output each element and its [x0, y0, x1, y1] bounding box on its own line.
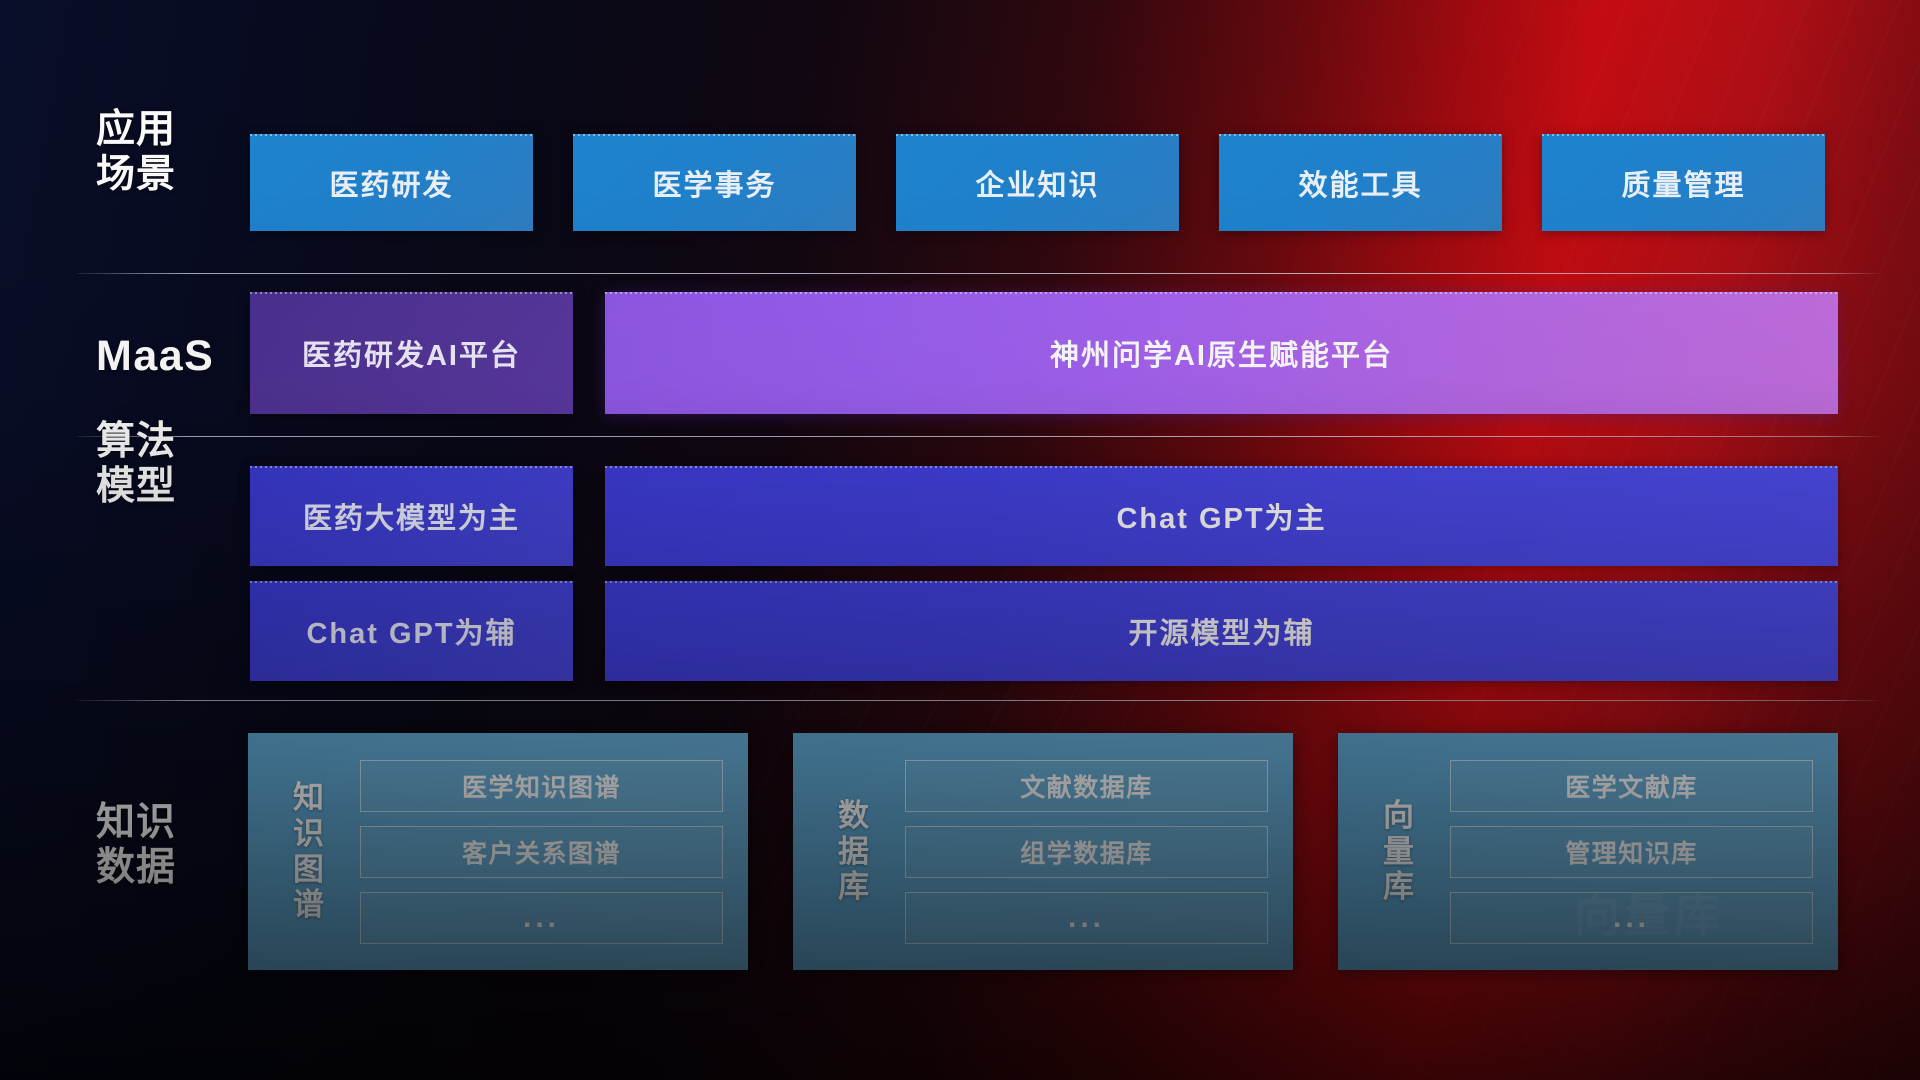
knowledge-panel-vector-store[interactable]: 向量库 向 量 库 医学文献库 管理知识库 ...: [1338, 733, 1838, 970]
maas-card-medicine-rd-ai-platform[interactable]: 医药研发AI平台: [250, 292, 573, 414]
row-label-line: 算法: [96, 419, 236, 464]
knowledge-panel-title-char: 库: [1360, 869, 1438, 905]
app-card-quality-management[interactable]: 质量管理: [1542, 134, 1825, 231]
knowledge-item-medical-literature-store[interactable]: 医学文献库: [1450, 760, 1813, 812]
dotted-edge-decoration: [250, 466, 573, 468]
algo-card-label: 开源模型为辅: [1128, 610, 1314, 652]
dotted-edge-decoration: [250, 134, 533, 136]
app-card-label: 企业知识: [975, 162, 1099, 204]
app-card-label: 医学事务: [652, 162, 776, 204]
divider-after-application-scenarios: [77, 273, 1880, 274]
knowledge-panel-items: 医学知识图谱 客户关系图谱 ...: [360, 760, 723, 944]
dotted-edge-decoration: [1219, 134, 1502, 136]
row-label-algorithm-models: 算法 模型: [96, 419, 236, 509]
knowledge-panel-title-char: 量: [1360, 834, 1438, 870]
dotted-edge-decoration: [605, 581, 1838, 583]
knowledge-item-management-knowledge-store[interactable]: 管理知识库: [1450, 826, 1813, 878]
app-card-medical-affairs[interactable]: 医学事务: [573, 134, 856, 231]
knowledge-panel-items: 医学文献库 管理知识库 ...: [1450, 760, 1813, 944]
knowledge-item-customer-relation-graph[interactable]: 客户关系图谱: [360, 826, 723, 878]
slide-canvas: 应用 场景 医药研发 医学事务 企业知识 效能工具 质量管理 MaaS 医药研发…: [0, 0, 1920, 1080]
knowledge-item-more[interactable]: ...: [1450, 892, 1813, 944]
dotted-edge-decoration: [250, 581, 573, 583]
maas-left-label: 医药研发AI平台: [302, 332, 521, 374]
dotted-edge-decoration: [605, 466, 1838, 468]
knowledge-item-more[interactable]: ...: [360, 892, 723, 944]
dotted-edge-decoration: [605, 292, 1838, 294]
knowledge-item-medical-knowledge-graph[interactable]: 医学知识图谱: [360, 760, 723, 812]
knowledge-panel-items: 文献数据库 组学数据库 ...: [905, 760, 1268, 944]
row-label-line: 场景: [96, 152, 236, 197]
row-label-application-scenarios: 应用 场景: [96, 107, 236, 197]
app-card-label: 效能工具: [1298, 162, 1422, 204]
row-label-line: 应用: [96, 107, 236, 152]
algo-card-chatgpt-secondary[interactable]: Chat GPT为辅: [250, 581, 573, 681]
row-label-line: 数据: [96, 845, 236, 890]
row-label-line: 模型: [96, 464, 236, 509]
knowledge-panel-title-char: 数: [815, 798, 893, 834]
knowledge-panel-title: 数 据 库: [815, 798, 893, 905]
app-card-enterprise-knowledge[interactable]: 企业知识: [896, 134, 1179, 231]
app-card-label: 质量管理: [1621, 162, 1745, 204]
row-label-text: MaaS: [96, 332, 236, 382]
algo-card-label: Chat GPT为辅: [306, 610, 516, 652]
dotted-edge-decoration: [573, 134, 856, 136]
knowledge-panel-title: 知 识 图 谱: [270, 780, 348, 923]
app-card-label: 医药研发: [329, 162, 453, 204]
app-card-medicine-rd[interactable]: 医药研发: [250, 134, 533, 231]
divider-after-maas: [77, 436, 1880, 437]
knowledge-panel-knowledge-graph[interactable]: 知 识 图 谱 医学知识图谱 客户关系图谱 ...: [248, 733, 748, 970]
row-label-knowledge-data: 知识 数据: [96, 800, 236, 890]
algo-card-chatgpt-primary[interactable]: Chat GPT为主: [605, 466, 1838, 566]
maas-card-shenzhou-wenxue-platform[interactable]: 神州问学AI原生赋能平台: [605, 292, 1838, 414]
row-label-line: 知识: [96, 800, 236, 845]
app-card-efficiency-tools[interactable]: 效能工具: [1219, 134, 1502, 231]
dotted-edge-decoration: [1542, 134, 1825, 136]
knowledge-panel-title-char: 知: [270, 780, 348, 816]
row-label-maas: MaaS: [96, 332, 236, 382]
knowledge-panel-title-char: 据: [815, 834, 893, 870]
knowledge-panel-title-char: 库: [815, 869, 893, 905]
knowledge-panel-title-char: 谱: [270, 887, 348, 923]
knowledge-panel-title-char: 图: [270, 852, 348, 888]
knowledge-panel-database[interactable]: 数 据 库 文献数据库 组学数据库 ...: [793, 733, 1293, 970]
knowledge-panel-title-char: 向: [1360, 798, 1438, 834]
dotted-edge-decoration: [250, 292, 573, 294]
dotted-edge-decoration: [896, 134, 1179, 136]
knowledge-item-literature-database[interactable]: 文献数据库: [905, 760, 1268, 812]
divider-after-algorithm-models: [77, 700, 1880, 701]
algo-card-opensource-model-secondary[interactable]: 开源模型为辅: [605, 581, 1838, 681]
knowledge-panel-title: 向 量 库: [1360, 798, 1438, 905]
algo-card-label: Chat GPT为主: [1116, 495, 1326, 537]
maas-right-label: 神州问学AI原生赋能平台: [1050, 332, 1393, 374]
algo-card-label: 医药大模型为主: [303, 495, 520, 537]
knowledge-item-omics-database[interactable]: 组学数据库: [905, 826, 1268, 878]
knowledge-panel-title-char: 识: [270, 816, 348, 852]
knowledge-item-more[interactable]: ...: [905, 892, 1268, 944]
algo-card-medicine-large-model-primary[interactable]: 医药大模型为主: [250, 466, 573, 566]
